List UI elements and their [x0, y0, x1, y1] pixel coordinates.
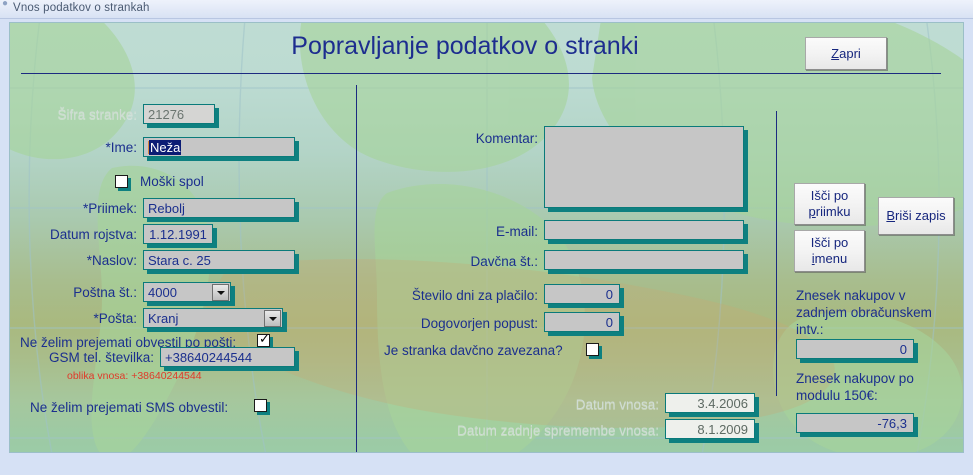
field-gsm-phone[interactable]: +38640244544 — [160, 347, 295, 367]
delete-record-label: Briši zapis — [886, 208, 945, 224]
label-comment: Komentar: — [395, 131, 538, 147]
application-window: ● Vnos podatkov o strankah — [0, 0, 973, 475]
checkbox-tax-liable[interactable] — [586, 343, 599, 356]
field-email[interactable] — [544, 220, 744, 240]
label-entry-date: Datum vnosa: — [430, 397, 659, 413]
label-postal-code: Poštna št.: — [10, 285, 137, 301]
window-icon: ● — [2, 0, 12, 8]
search-by-name-line1: Išči po — [811, 235, 849, 251]
label-surname: *Priimek: — [10, 201, 137, 217]
label-first-name: *Ime: — [10, 140, 137, 156]
close-button[interactable]: Zapri — [805, 37, 887, 70]
label-last-change-date: Datum zadnje spremembe vnosa: — [430, 423, 659, 439]
check-tick-icon: ✓ — [259, 333, 270, 346]
field-last-change-date: 8.1.2009 — [665, 419, 755, 439]
field-amount-current-period: 0 — [796, 339, 914, 359]
label-address: *Naslov: — [10, 253, 137, 269]
search-by-name-line2: imenu — [812, 251, 847, 267]
window-titlebar: ● Vnos podatkov o strankah — [0, 0, 973, 19]
checkbox-no-postal-notifications[interactable]: ✓ — [257, 334, 270, 347]
field-address[interactable]: Stara c. 25 — [143, 250, 295, 270]
combo-post-office[interactable]: Kranj — [143, 308, 283, 328]
label-birth-date: Datum rojstva: — [10, 227, 137, 243]
field-entry-date: 3.4.2006 — [665, 393, 755, 413]
form-client-area: Popravljanje podatkov o stranki Zapri Ši… — [9, 22, 964, 453]
field-birth-date[interactable]: 1.12.1991 — [143, 224, 213, 244]
page-title: Popravljanje podatkov o stranki — [185, 32, 745, 61]
window-title: Vnos podatkov o strankah — [13, 2, 150, 14]
label-agreed-discount: Dogovorjen popust: — [380, 316, 538, 332]
field-customer-code: 21276 — [143, 104, 215, 124]
label-no-sms-notifications: Ne želim prejemati SMS obvestil: — [30, 400, 228, 416]
label-male-gender: Moški spol — [140, 174, 204, 190]
column-divider-left — [356, 85, 357, 453]
chevron-down-icon-post-office[interactable] — [264, 310, 281, 327]
combo-postal-code-value: 4000 — [148, 285, 177, 300]
header-divider-rule — [21, 73, 941, 74]
label-payment-days: Število dni za plačilo: — [380, 288, 538, 304]
search-by-surname-line1: Išči po — [811, 188, 849, 204]
checkbox-no-sms-notifications[interactable] — [254, 399, 267, 412]
column-divider-right — [776, 111, 777, 396]
field-amount-module-150: -76,3 — [796, 413, 914, 433]
delete-record-button[interactable]: Briši zapis — [878, 197, 954, 235]
field-comment[interactable] — [544, 126, 744, 208]
combo-postal-code[interactable]: 4000 — [143, 282, 231, 302]
label-post-office: *Pošta: — [10, 311, 137, 327]
search-by-surname-line2: priimku — [809, 204, 851, 220]
close-button-label: Zapri — [831, 46, 861, 62]
field-tax-number[interactable] — [544, 250, 744, 270]
combo-post-office-value: Kranj — [148, 311, 178, 326]
search-by-surname-button[interactable]: Išči po priimku — [794, 183, 865, 225]
label-email: E-mail: — [395, 224, 538, 240]
hint-gsm-format: oblika vnosa: +38640244544 — [67, 370, 202, 382]
label-amount-module-150: Znesek nakupov po modulu 150€: — [796, 370, 956, 404]
checkbox-male-gender[interactable] — [115, 175, 128, 188]
field-first-name[interactable]: Neža — [143, 137, 295, 157]
field-payment-days[interactable]: 0 — [544, 284, 620, 304]
field-agreed-discount[interactable]: 0 — [544, 312, 620, 332]
label-amount-current-period: Znesek nakupov v zadnjem obračunskem int… — [796, 287, 956, 338]
label-gsm-phone: GSM tel. številka: — [10, 350, 154, 366]
label-tax-number: Davčna št.: — [395, 254, 538, 270]
chevron-down-icon-postal[interactable] — [212, 284, 229, 301]
label-customer-code: Šifra stranke: — [10, 107, 137, 123]
field-first-name-value: Neža — [149, 140, 181, 155]
label-tax-liable: Je stranka davčno zavezana? — [384, 343, 563, 359]
field-surname[interactable]: Rebolj — [143, 198, 295, 218]
search-by-name-button[interactable]: Išči po imenu — [794, 230, 865, 272]
